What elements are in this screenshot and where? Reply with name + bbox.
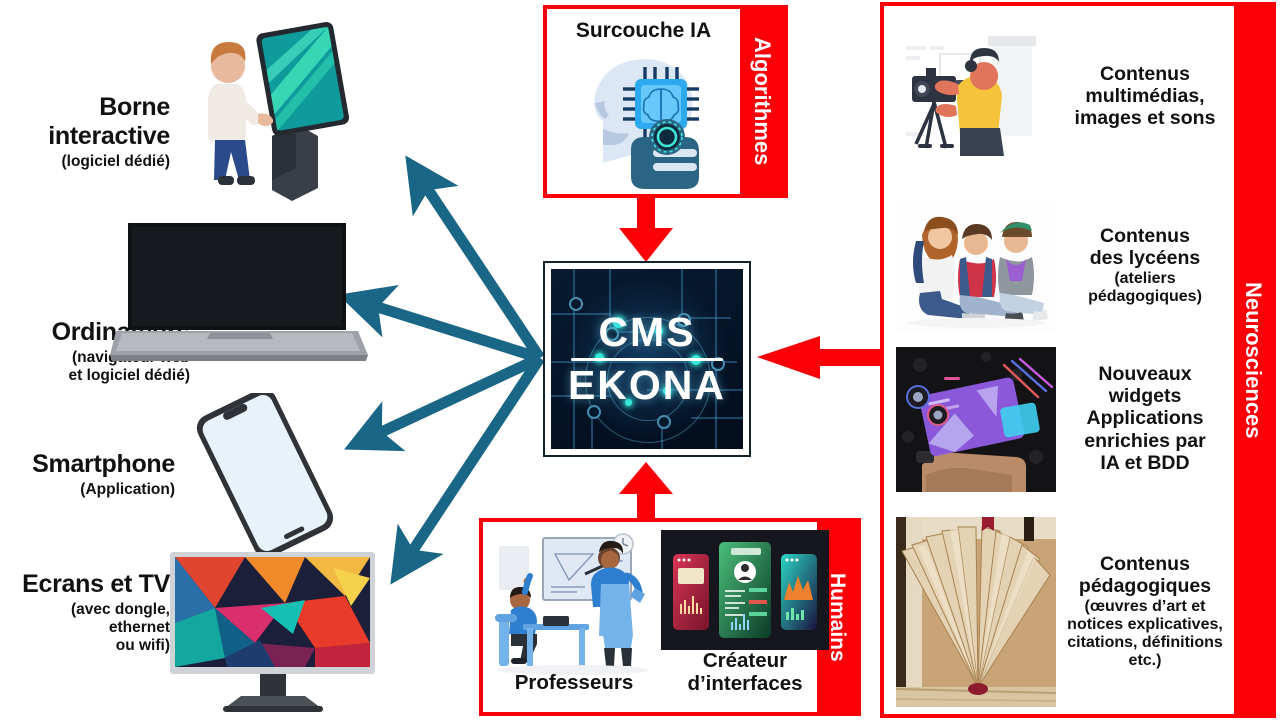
device-note: (avec dongle, ethernet ou wifi)	[5, 601, 170, 655]
cms-divider	[571, 358, 723, 361]
tablet-widgets-photo	[896, 347, 1056, 492]
neuro-item-text: Contenus des lycéens (ateliers pédagogiq…	[1056, 225, 1234, 307]
neuro-item-text: Contenus pédagogiques (œuvres d’art et n…	[1056, 553, 1234, 671]
arrow-from-neurosciences	[757, 336, 882, 379]
neuro-item-pedagogiques[interactable]: Contenus pédagogiques (œuvres d’art et n…	[884, 514, 1234, 709]
humains-panel[interactable]: Professeurs Créateur d’interfaces Humain…	[479, 518, 861, 716]
laptop-photo	[110, 205, 370, 380]
surcouche-ia-title: Surcouche IA	[547, 19, 740, 43]
device-label-smartphone: Smartphone (Application)	[5, 450, 175, 499]
teenagers-photo	[896, 201, 1056, 331]
arrow-to-ordinateurs	[355, 300, 540, 358]
open-book-photo	[896, 517, 1056, 707]
device-title-2: interactive	[10, 122, 170, 151]
neuro-item-widgets[interactable]: Nouveaux widgets Applications enrichies …	[884, 344, 1234, 494]
device-title: Smartphone	[5, 450, 175, 479]
neurosciences-band: Neurosciences	[1234, 6, 1272, 714]
humains-caption-professeurs: Professeurs	[489, 672, 659, 695]
cameraman-illustration	[896, 32, 1056, 162]
device-label-borne-interactive: Borne interactive (logiciel dédié)	[10, 93, 170, 171]
humains-panel-body: Professeurs Créateur d’interfaces	[483, 522, 817, 712]
humains-caption-createur-interfaces: Créateur d’interfaces	[659, 650, 831, 695]
algorithmes-panel-body: Surcouche IA	[547, 9, 740, 194]
cms-ekona-title: CMS EKONA	[551, 269, 743, 449]
ui-screens-mockup-photo	[661, 530, 829, 650]
diagram-canvas: Borne interactive (logiciel dédié) Ordin…	[0, 0, 1280, 720]
algorithmes-panel[interactable]: Surcouche IA	[543, 5, 788, 198]
device-note: (Application)	[5, 481, 175, 499]
smartphone-photo	[180, 393, 350, 553]
cms-line-2: EKONA	[568, 365, 726, 406]
cms-ekona-box[interactable]: CMS EKONA	[543, 261, 751, 457]
neuro-item-text: Nouveaux widgets Applications enrichies …	[1056, 363, 1234, 474]
device-note: (logiciel dédié)	[10, 153, 170, 171]
arrow-to-borne-interactive	[415, 170, 540, 358]
arrow-from-humains	[619, 462, 673, 519]
algorithmes-band-label: Algorithmes	[749, 37, 775, 165]
ai-head-brain-chip-icon	[561, 45, 733, 190]
circuit-background: CMS EKONA	[551, 269, 743, 449]
algorithmes-band: Algorithmes	[740, 9, 784, 194]
monitor-tv-photo	[165, 548, 380, 716]
cms-line-1: CMS	[598, 312, 695, 353]
neuro-item-lyceens[interactable]: Contenus des lycéens (ateliers pédagogiq…	[884, 198, 1234, 333]
interactive-kiosk-illustration	[180, 18, 370, 203]
teacher-classroom-illustration	[489, 528, 657, 676]
arrow-from-algorithmes	[619, 198, 673, 262]
neuro-item-text: Contenus multimédias, images et sons	[1056, 63, 1234, 130]
neurosciences-panel-body: Contenus multimédias, images et sons	[884, 6, 1234, 714]
neurosciences-panel[interactable]: Contenus multimédias, images et sons	[880, 2, 1276, 718]
arrow-to-smartphone	[360, 358, 540, 442]
neuro-item-multimedia[interactable]: Contenus multimédias, images et sons	[884, 14, 1234, 179]
device-title: Borne	[10, 93, 170, 122]
device-title: Ecrans et TV	[5, 570, 170, 599]
device-label-ecrans-tv: Ecrans et TV (avec dongle, ethernet ou w…	[5, 570, 170, 655]
neurosciences-band-label: Neurosciences	[1240, 282, 1266, 439]
